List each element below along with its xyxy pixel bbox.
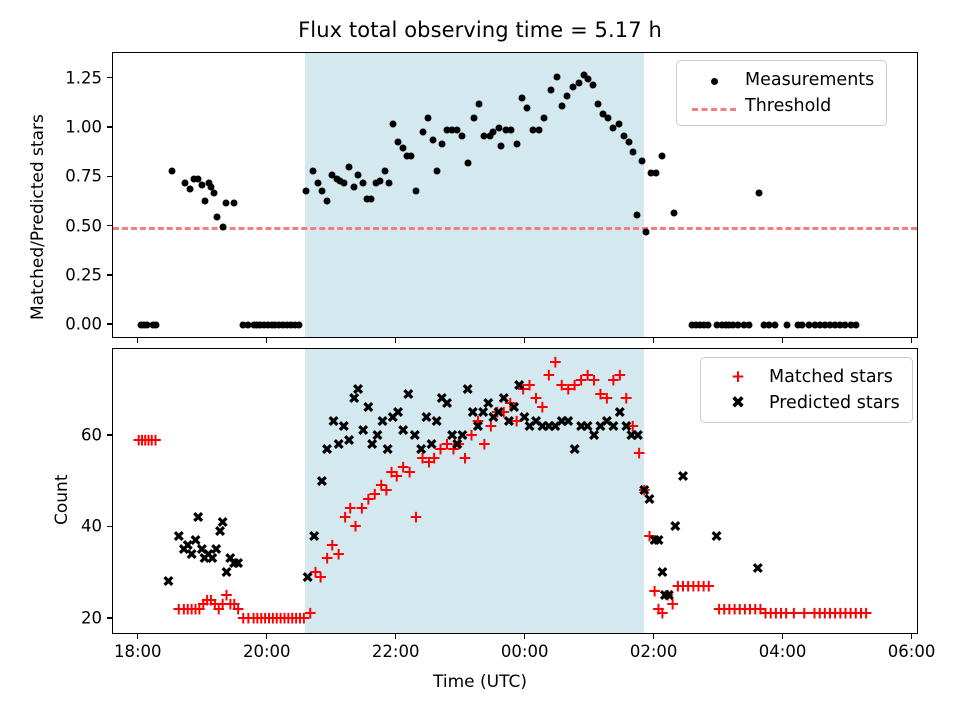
top-y-tick: [107, 225, 112, 226]
top-y-tick-label: 1.00: [50, 117, 102, 136]
data-point-measurement: [459, 132, 466, 139]
legend-label-measurements: Measurements: [741, 70, 874, 90]
top-y-tick: [107, 323, 112, 324]
data-point-measurement: [355, 172, 362, 179]
data-point-matched-star: +: [859, 606, 873, 623]
data-point-measurement: [498, 142, 505, 149]
data-point-measurement: [389, 121, 396, 128]
data-point-predicted-star: ✖: [652, 534, 665, 549]
data-point-predicted-star: ✖: [392, 406, 405, 421]
data-point-measurement: [198, 182, 205, 189]
data-point-measurement: [638, 158, 645, 165]
bottom-y-tick-label: 20: [50, 608, 102, 627]
data-point-predicted-star: ✖: [568, 442, 581, 457]
data-point-predicted-star: ✖: [643, 493, 656, 508]
legend-item-threshold: Threshold: [687, 93, 874, 119]
data-point-predicted-star: ✖: [352, 383, 365, 398]
x-tick-label: 20:00: [243, 642, 291, 661]
data-point-measurement: [407, 152, 414, 159]
data-point-predicted-star: ✖: [441, 396, 454, 411]
data-point-matched-star: +: [477, 437, 491, 454]
plus-icon: +: [711, 369, 765, 386]
data-point-measurement: [219, 223, 226, 230]
data-point-measurement: [429, 136, 436, 143]
data-point-predicted-star: ✖: [381, 442, 394, 457]
data-point-measurement: [704, 322, 711, 329]
data-point-measurement: [303, 188, 310, 195]
data-point-measurement: [633, 211, 640, 218]
top-ylabel: Matched/Predicted stars: [28, 114, 48, 320]
data-point-measurement: [589, 81, 596, 88]
top-x-tick: [395, 338, 396, 343]
top-y-tick: [107, 77, 112, 78]
data-point-measurement: [575, 79, 582, 86]
data-point-predicted-star: ✖: [632, 428, 645, 443]
data-point-measurement: [642, 229, 649, 236]
data-point-measurement: [340, 180, 347, 187]
top-y-tick-label: 0.00: [50, 315, 102, 334]
cross-icon: ✖: [711, 395, 765, 412]
data-point-matched-star: +: [613, 368, 627, 385]
data-point-predicted-star: ✖: [656, 566, 669, 581]
legend-label-matched-stars: Matched stars: [765, 367, 893, 387]
top-y-tick: [107, 176, 112, 177]
bottom-x-tick: [524, 634, 525, 639]
data-point-measurement: [400, 144, 407, 151]
data-point-measurement: [367, 195, 374, 202]
bottom-y-tick: [107, 617, 112, 618]
bottom-x-tick: [911, 634, 912, 639]
data-point-predicted-star: ✖: [663, 589, 676, 604]
data-point-measurement: [201, 197, 208, 204]
data-point-predicted-star: ✖: [513, 378, 526, 393]
data-point-measurement: [324, 197, 331, 204]
bottom-legend: + Matched stars ✖ Predicted stars: [700, 357, 913, 423]
data-point-measurement: [433, 168, 440, 175]
bottom-x-tick: [266, 634, 267, 639]
data-point-measurement: [210, 190, 217, 197]
data-point-matched-star: +: [314, 569, 328, 586]
legend-label-predicted-stars: Predicted stars: [765, 393, 900, 413]
legend-label-threshold: Threshold: [741, 96, 831, 116]
top-x-tick: [653, 338, 654, 343]
data-point-predicted-star: ✖: [210, 543, 223, 558]
data-point-measurement: [535, 126, 542, 133]
top-x-tick: [266, 338, 267, 343]
top-y-tick: [107, 274, 112, 275]
data-point-measurement: [615, 121, 622, 128]
data-point-measurement: [169, 168, 176, 175]
top-y-tick-label: 1.25: [50, 68, 102, 87]
data-point-matched-star: +: [548, 354, 562, 371]
data-point-measurement: [553, 73, 560, 80]
data-point-predicted-star: ✖: [308, 529, 321, 544]
data-point-measurement: [424, 115, 431, 122]
top-y-tick: [107, 126, 112, 127]
dashed-line-icon: [687, 98, 741, 115]
dot-icon: [687, 72, 741, 89]
data-point-measurement: [629, 148, 636, 155]
top-x-tick: [524, 338, 525, 343]
data-point-predicted-star: ✖: [343, 433, 356, 448]
data-point-measurement: [231, 199, 238, 206]
data-point-predicted-star: ✖: [192, 511, 205, 526]
x-tick-label: 22:00: [372, 642, 420, 661]
legend-item-matched-stars: + Matched stars: [711, 364, 900, 390]
bottom-y-tick-label: 40: [50, 517, 102, 536]
figure-title: Flux total observing time = 5.17 h: [0, 18, 960, 42]
data-point-measurement: [670, 209, 677, 216]
data-point-measurement: [385, 180, 392, 187]
data-point-predicted-star: ✖: [710, 529, 723, 544]
data-point-matched-star: +: [303, 606, 317, 623]
data-point-measurement: [413, 188, 420, 195]
x-tick-label: 06:00: [888, 642, 936, 661]
top-y-tick-label: 0.25: [50, 265, 102, 284]
data-point-predicted-star: ✖: [461, 383, 474, 398]
top-x-tick: [137, 338, 138, 343]
data-point-predicted-star: ✖: [752, 561, 765, 576]
data-point-predicted-star: ✖: [430, 415, 443, 430]
data-point-measurement: [798, 322, 805, 329]
data-point-predicted-star: ✖: [425, 438, 438, 453]
data-point-measurement: [471, 115, 478, 122]
bottom-x-tick: [782, 634, 783, 639]
data-point-matched-star: +: [600, 391, 614, 408]
data-point-measurement: [315, 180, 322, 187]
top-y-tick-label: 0.50: [50, 216, 102, 235]
legend-item-measurements: Measurements: [687, 67, 874, 93]
data-point-measurement: [419, 128, 426, 135]
data-point-measurement: [518, 95, 525, 102]
bottom-x-tick: [137, 634, 138, 639]
data-point-measurement: [508, 126, 515, 133]
data-point-predicted-star: ✖: [232, 557, 245, 572]
top-legend: Measurements Threshold: [676, 60, 887, 126]
data-point-measurement: [318, 188, 325, 195]
data-point-predicted-star: ✖: [669, 520, 682, 535]
data-point-predicted-star: ✖: [456, 428, 469, 443]
data-point-matched-star: +: [148, 432, 162, 449]
data-point-measurement: [594, 101, 601, 108]
data-point-predicted-star: ✖: [162, 575, 175, 590]
data-point-measurement: [558, 103, 565, 110]
shaded-observing-window: [305, 53, 644, 337]
data-point-measurement: [382, 168, 389, 175]
data-point-measurement: [605, 115, 612, 122]
data-point-measurement: [476, 101, 483, 108]
data-point-measurement: [464, 160, 471, 167]
bottom-x-tick: [653, 634, 654, 639]
data-point-measurement: [351, 184, 358, 191]
data-point-measurement: [756, 190, 763, 197]
data-point-measurement: [652, 170, 659, 177]
data-point-measurement: [345, 164, 352, 171]
data-point-measurement: [852, 322, 859, 329]
data-point-measurement: [495, 124, 502, 131]
data-point-predicted-star: ✖: [677, 470, 690, 485]
bottom-y-tick: [107, 434, 112, 435]
data-point-measurement: [376, 178, 383, 185]
x-tick-label: 18:00: [114, 642, 162, 661]
data-point-predicted-star: ✖: [562, 415, 575, 430]
top-x-tick: [782, 338, 783, 343]
data-point-measurement: [295, 322, 302, 329]
top-y-tick-label: 0.75: [50, 167, 102, 186]
data-point-measurement: [540, 115, 547, 122]
data-point-matched-star: +: [702, 578, 716, 595]
top-x-tick: [911, 338, 912, 343]
legend-item-predicted-stars: ✖ Predicted stars: [711, 390, 900, 416]
data-point-matched-star: +: [332, 546, 346, 563]
data-point-measurement: [625, 138, 632, 145]
data-point-measurement: [309, 168, 316, 175]
x-tick-label: 04:00: [759, 642, 807, 661]
data-point-measurement: [360, 180, 367, 187]
data-point-predicted-star: ✖: [362, 401, 375, 416]
figure-root: Flux total observing time = 5.17 h Match…: [0, 0, 960, 720]
data-point-measurement: [784, 322, 791, 329]
data-point-measurement: [223, 199, 230, 206]
data-point-measurement: [153, 322, 160, 329]
data-point-measurement: [548, 87, 555, 94]
bottom-y-tick-label: 60: [50, 425, 102, 444]
threshold-line: [113, 227, 917, 230]
x-tick-label: 02:00: [630, 642, 678, 661]
data-point-measurement: [563, 93, 570, 100]
data-point-measurement: [214, 213, 221, 220]
data-point-predicted-star: ✖: [316, 474, 329, 489]
data-point-matched-star: +: [348, 519, 362, 536]
bottom-y-tick: [107, 526, 112, 527]
data-point-measurement: [523, 105, 530, 112]
data-point-measurement: [438, 140, 445, 147]
data-point-measurement: [771, 322, 778, 329]
bottom-x-tick: [395, 634, 396, 639]
data-point-predicted-star: ✖: [301, 570, 314, 585]
data-point-measurement: [187, 186, 194, 193]
data-point-predicted-star: ✖: [216, 515, 229, 530]
data-point-measurement: [659, 152, 666, 159]
data-point-matched-star: +: [632, 446, 646, 463]
data-point-measurement: [745, 322, 752, 329]
data-point-matched-star: +: [409, 510, 423, 527]
x-axis-label: Time (UTC): [0, 672, 960, 692]
x-tick-label: 00:00: [501, 642, 549, 661]
data-point-predicted-star: ✖: [402, 387, 415, 402]
data-point-measurement: [513, 140, 520, 147]
